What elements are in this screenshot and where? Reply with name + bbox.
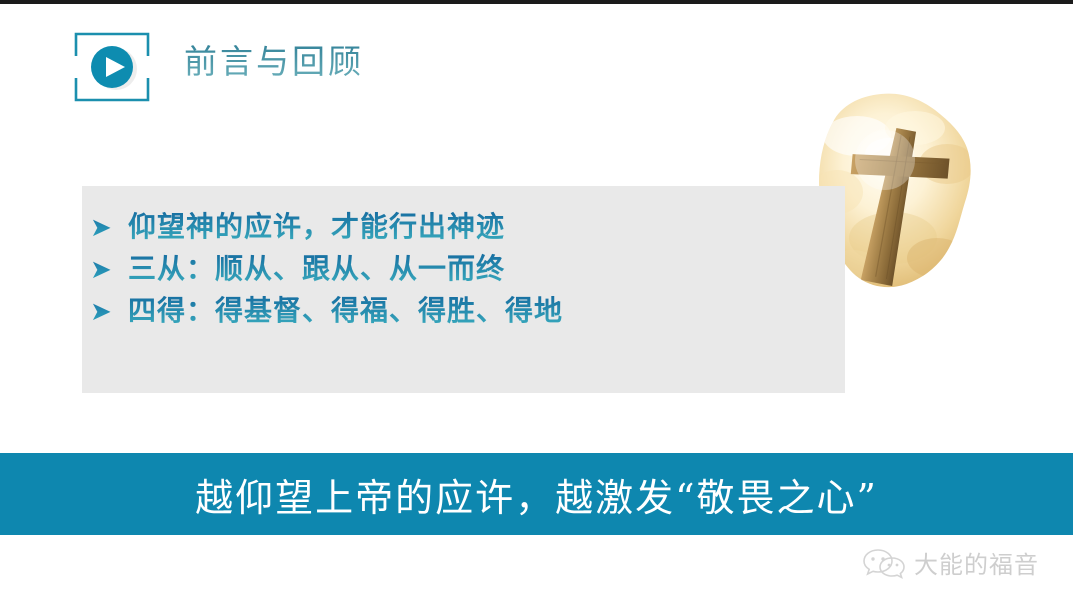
arrow-bullet-icon: ➤ xyxy=(90,206,128,248)
arrow-bullet-icon: ➤ xyxy=(90,248,128,290)
list-item-label: 四得：得基督、得福、得胜、得地 xyxy=(128,290,563,332)
list-item-label: 三从：顺从、跟从、从一而终 xyxy=(128,248,505,290)
play-button-in-frame-icon xyxy=(74,32,150,102)
page-title: 前言与回顾 xyxy=(184,40,364,84)
list-item: ➤ 四得：得基督、得福、得胜、得地 xyxy=(90,290,850,332)
list-item: ➤ 仰望神的应许，才能行出神迹 xyxy=(90,206,850,248)
list-item: ➤ 三从：顺从、跟从、从一而终 xyxy=(90,248,850,290)
watermark: 大能的福音 xyxy=(862,545,1039,580)
bullet-list: ➤ 仰望神的应许，才能行出神迹 ➤ 三从：顺从、跟从、从一而终 ➤ 四得：得基督… xyxy=(90,206,850,332)
list-item-label: 仰望神的应许，才能行出神迹 xyxy=(128,206,505,248)
top-edge-strip xyxy=(0,0,1073,4)
banner-text: 越仰望上帝的应许，越激发“敬畏之心” xyxy=(195,467,878,522)
watermark-label: 大能的福音 xyxy=(914,545,1039,580)
arrow-bullet-icon: ➤ xyxy=(90,290,128,332)
wechat-logo-icon xyxy=(862,546,906,580)
presentation-slide: 前言与回顾 xyxy=(0,0,1073,605)
highlight-banner: 越仰望上帝的应许，越激发“敬畏之心” xyxy=(0,453,1073,535)
